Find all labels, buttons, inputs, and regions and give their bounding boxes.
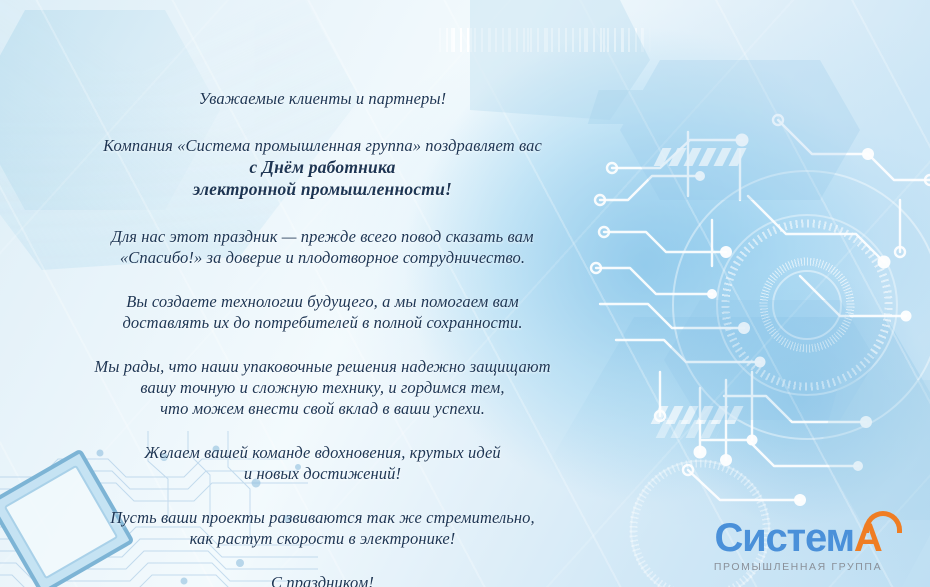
text-line: Пусть ваши проекты развиваются так же ст… xyxy=(0,507,645,528)
text-line: Вы создаете технологии будущего, а мы по… xyxy=(0,291,645,312)
slanted-bars-icon xyxy=(651,406,746,424)
paragraph-future-tech: Вы создаете технологии будущего, а мы по… xyxy=(0,291,645,333)
text-line: Компания «Система промышленная группа» п… xyxy=(0,135,645,156)
gear-ring-dashed xyxy=(740,238,874,372)
text-line: Желаем вашей команде вдохновения, крутых… xyxy=(0,442,645,463)
gear-ring-outer xyxy=(672,170,930,440)
text-line: Мы рады, что наши упаковочные решения на… xyxy=(0,356,645,377)
gear-ring-inner xyxy=(772,270,842,340)
slanted-bars-icon xyxy=(656,420,725,438)
text-line: «Спасибо!» за доверие и плодотворное сот… xyxy=(0,247,645,268)
text-line-bold: с Днём работника xyxy=(0,156,645,178)
logo-wordmark: СистемА xyxy=(690,516,906,560)
gear-ring-dashed xyxy=(686,184,928,426)
text-line: как растут скорости в электронике! xyxy=(0,528,645,549)
company-logo: СистемА ПРОМЫШЛЕННАЯ ГРУППА xyxy=(690,516,906,573)
text-line-bold: электронной промышленности! xyxy=(0,178,645,200)
greeting-message: Уважаемые клиенты и партнеры! Компания «… xyxy=(0,88,645,587)
text-line: Уважаемые клиенты и партнеры! xyxy=(0,88,645,109)
paragraph-packaging: Мы рады, что наши упаковочные решения на… xyxy=(0,356,645,419)
paragraph-thanks: Для нас этот праздник — прежде всего пов… xyxy=(0,226,645,268)
text-line: С праздником! xyxy=(0,572,645,587)
logo-subtitle: ПРОМЫШЛЕННАЯ ГРУППА xyxy=(690,561,906,573)
logo-arc-icon xyxy=(864,511,902,533)
greeting-card: Уважаемые клиенты и партнеры! Компания «… xyxy=(0,0,930,587)
paragraph-wishes: Желаем вашей команде вдохновения, крутых… xyxy=(0,442,645,484)
paragraph-announcement: Компания «Система промышленная группа» п… xyxy=(0,135,645,200)
text-line: доставлять их до потребителей в полной с… xyxy=(0,312,645,333)
paragraph-closing: С праздником! xyxy=(0,572,645,587)
slanted-bars-icon xyxy=(654,148,749,166)
barcode-ticks-icon xyxy=(432,28,652,52)
gear-ring-mid xyxy=(716,214,898,396)
text-line: вашу точную и сложную технику, и гордимс… xyxy=(0,377,645,398)
paragraph-greeting: Уважаемые клиенты и партнеры! xyxy=(0,88,645,109)
text-line: что можем внести свой вклад в ваши успех… xyxy=(0,398,645,419)
text-line: и новых достижений! xyxy=(0,463,645,484)
logo-word-main: Систем xyxy=(714,516,853,560)
paragraph-projects: Пусть ваши проекты развиваются так же ст… xyxy=(0,507,645,549)
text-line: Для нас этот праздник — прежде всего пов… xyxy=(0,226,645,247)
